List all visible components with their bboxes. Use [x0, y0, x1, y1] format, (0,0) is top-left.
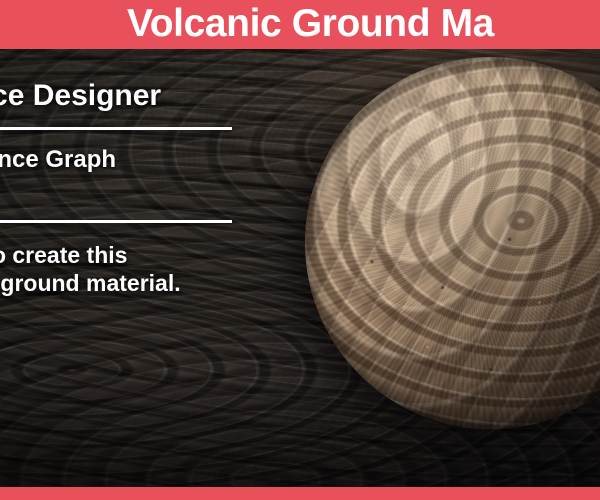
series-description-line-2: ures: [0, 174, 290, 203]
divider-top: [0, 127, 232, 130]
title-bar: Volcanic Ground Ma: [0, 0, 600, 49]
divider-bottom: [0, 220, 232, 223]
promo-banner-image: Volcanic Ground Ma ance Designer bstance…: [0, 0, 600, 500]
subtitle: ance Designer: [0, 49, 290, 111]
footer-bar: [0, 487, 600, 500]
tagline: w to create this anic ground material.: [0, 241, 290, 298]
text-panel: ance Designer bstance Graph ures w to cr…: [0, 49, 290, 298]
tagline-line-1: w to create this: [0, 241, 290, 270]
tagline-line-2: anic ground material.: [0, 269, 290, 298]
series-description: bstance Graph ures: [0, 145, 290, 204]
page-title: Volcanic Ground Ma: [127, 4, 494, 43]
series-description-line-1: bstance Graph: [0, 145, 290, 174]
